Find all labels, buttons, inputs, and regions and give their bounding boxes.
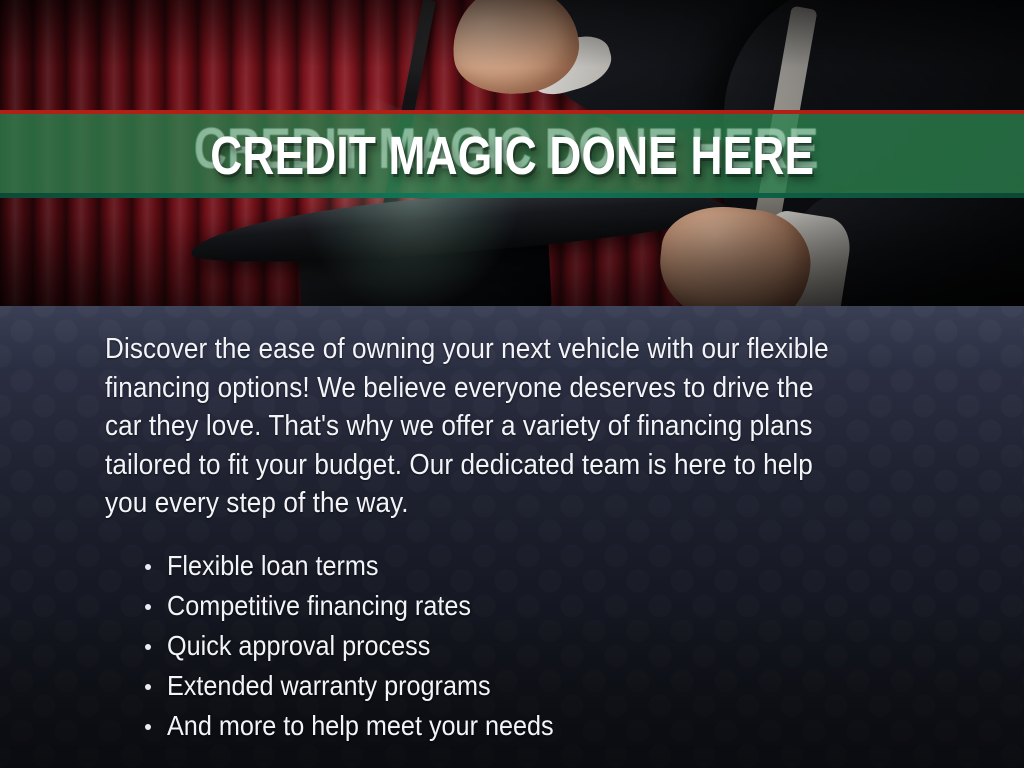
list-item-label: Extended warranty programs [167,669,491,703]
list-item: Quick approval process [105,629,935,663]
headline-band-underline [0,193,1024,198]
list-item-label: Flexible loan terms [167,549,378,583]
list-item: Competitive financing rates [105,589,935,623]
list-item-label: And more to help meet your needs [167,709,554,743]
headline-text: CREDIT MAGIC DONE HERE [210,129,814,183]
bullet-dot-icon [145,684,151,690]
promo-slide: CREDIT MAGIC DONE HERE CREDIT MAGIC DONE… [0,0,1024,768]
headline-band: CREDIT MAGIC DONE HERE CREDIT MAGIC DONE… [0,110,1024,198]
list-item: Flexible loan terms [105,549,935,583]
bullet-dot-icon [145,564,151,570]
bullet-dot-icon [145,604,151,610]
content-area: Discover the ease of owning your next ve… [0,306,1024,768]
content-block: Discover the ease of owning your next ve… [105,330,935,750]
list-item-label: Quick approval process [167,629,430,663]
headline: CREDIT MAGIC DONE HERE [0,129,1024,183]
bullet-dot-icon [145,724,151,730]
intro-paragraph-text: Discover the ease of owning your next ve… [105,330,852,523]
intro-paragraph: Discover the ease of owning your next ve… [105,330,935,523]
list-item: And more to help meet your needs [105,709,935,743]
benefits-list: Flexible loan terms Competitive financin… [105,549,935,744]
list-item-label: Competitive financing rates [167,589,471,623]
bullet-dot-icon [145,644,151,650]
list-item: Extended warranty programs [105,669,935,703]
